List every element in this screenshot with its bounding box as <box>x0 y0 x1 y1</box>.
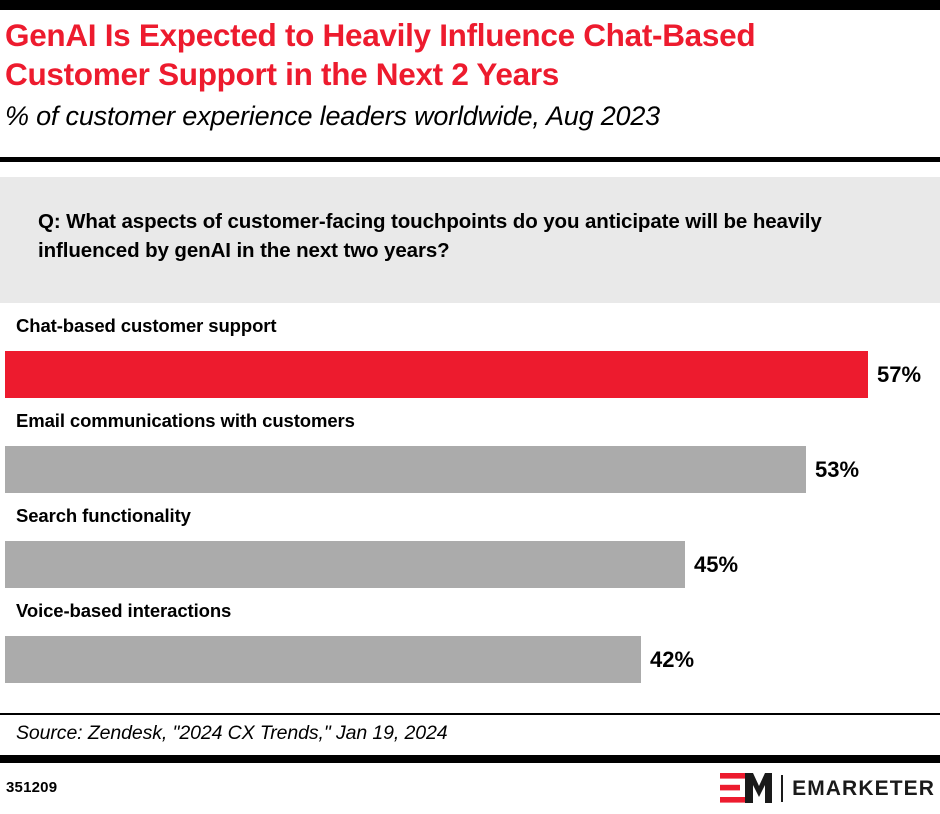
bar-value-label: 53% <box>815 459 859 481</box>
brand-divider <box>781 775 783 802</box>
bar-category-label: Voice-based interactions <box>16 600 231 622</box>
chart-id-label: 351209 <box>6 779 57 796</box>
bar-fill <box>5 351 868 398</box>
chart-subtitle: % of customer experience leaders worldwi… <box>5 100 935 133</box>
survey-question-text: Q: What aspects of customer-facing touch… <box>38 207 908 265</box>
source-note: Source: Zendesk, "2024 CX Trends," Jan 1… <box>16 722 448 745</box>
bar-track: 57% <box>5 351 921 398</box>
bar-category-label: Chat-based customer support <box>16 315 276 337</box>
bar-group: Voice-based interactions 42% <box>0 588 940 683</box>
header-divider-rule <box>0 157 940 162</box>
em-logo-icon <box>720 773 772 803</box>
bar-value-label: 57% <box>877 364 921 386</box>
bar-value-label: 45% <box>694 554 738 576</box>
bar-group: Chat-based customer support 57% <box>0 303 940 398</box>
source-bottom-rule <box>0 755 940 763</box>
chart-header: GenAI Is Expected to Heavily Influence C… <box>5 16 935 133</box>
bar-value-label: 42% <box>650 649 694 671</box>
brand-wordmark: EMARKETER <box>792 778 935 799</box>
chart-title: GenAI Is Expected to Heavily Influence C… <box>5 16 935 94</box>
source-top-rule <box>0 713 940 715</box>
bar-category-label: Email communications with customers <box>16 410 355 432</box>
bar-category-label: Search functionality <box>16 505 191 527</box>
bar-group: Search functionality 45% <box>0 493 940 588</box>
bar-fill <box>5 541 685 588</box>
bar-group: Email communications with customers 53% <box>0 398 940 493</box>
chart-footer: 351209 EMARKETER <box>0 763 940 814</box>
bar-fill <box>5 446 806 493</box>
brand-lockup: EMARKETER <box>720 773 935 803</box>
bar-track: 42% <box>5 636 694 683</box>
survey-question-panel: Q: What aspects of customer-facing touch… <box>0 177 940 303</box>
bar-chart-plot-area: Chat-based customer support 57% Email co… <box>0 303 940 683</box>
bar-fill <box>5 636 641 683</box>
chart-card: GenAI Is Expected to Heavily Influence C… <box>0 0 940 814</box>
bar-track: 53% <box>5 446 859 493</box>
bar-track: 45% <box>5 541 738 588</box>
top-rule <box>0 0 940 10</box>
